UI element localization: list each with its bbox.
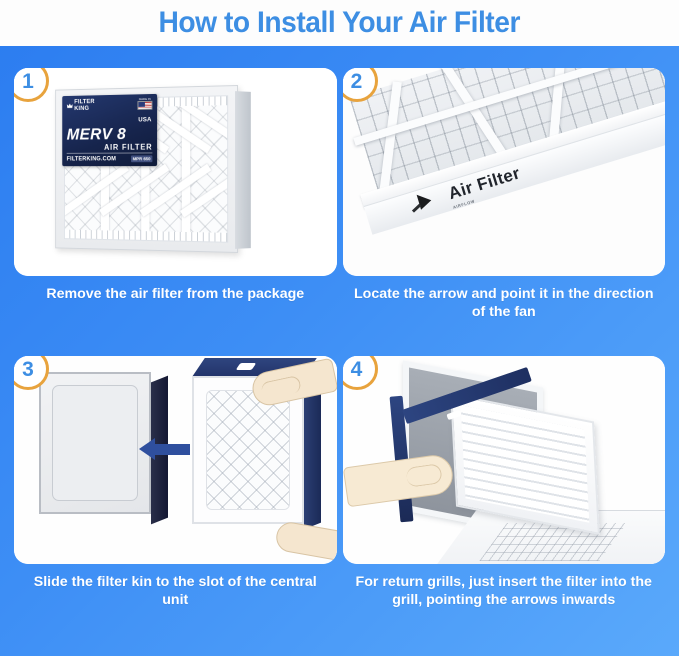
label-footer-row: FILTERKING.COM MPR 650 [67, 152, 153, 162]
country-text: USA [138, 117, 151, 124]
step-1: 1 [14, 68, 337, 354]
made-in-usa-mark: MADE IN USA [137, 98, 152, 126]
filter-corner-body: Air Filter AIRFLOW [343, 68, 666, 276]
step-1-image-card: 1 [14, 68, 337, 276]
unit-recess [52, 385, 138, 501]
steps-grid: 1 [0, 46, 679, 656]
brand-website: FILTERKING.COM [67, 156, 116, 163]
merv-rating: MERV 8 [67, 126, 153, 143]
usa-flag-icon [137, 101, 152, 110]
step-3: 3 [14, 356, 337, 642]
insert-direction-arrow-icon [154, 444, 190, 455]
step-2: 2 Air Filter AIRFLOW [343, 68, 666, 354]
step-4-image-card: 4 [343, 356, 666, 564]
air-filter-body: FILTER KING MADE IN USA [55, 85, 238, 253]
page-title: How to Install Your Air Filter [159, 6, 520, 40]
slide-filter-illustration [14, 356, 337, 564]
step-1-caption: Remove the air filter from the package [14, 285, 337, 303]
label-header-row: FILTER KING MADE IN USA [67, 98, 153, 127]
unit-front-face [39, 372, 151, 514]
header-band: How to Install Your Air Filter [0, 0, 679, 46]
step-3-caption: Slide the filter kin to the slot of the … [14, 573, 337, 609]
infographic-root: How to Install Your Air Filter 1 [0, 0, 679, 656]
step-3-image-card: 3 [14, 356, 337, 564]
filter-side-edge [235, 91, 251, 249]
hand-lower [274, 520, 337, 562]
crown-icon [67, 103, 73, 110]
step-2-caption: Locate the arrow and point it in the dir… [343, 285, 666, 321]
central-unit-slot [39, 372, 151, 514]
mpr-badge: MPR 650 [131, 156, 153, 162]
filter-diamond-media [206, 390, 290, 510]
return-grill-illustration [343, 356, 666, 564]
brand-mark: FILTER KING [67, 99, 95, 112]
filter-product-label: FILTER KING MADE IN USA [62, 94, 157, 166]
brand-name: FILTER KING [74, 99, 94, 112]
filter-product-photo: FILTER KING MADE IN USA [14, 68, 337, 276]
step-4: 4 For return grills, just insert the fil… [343, 356, 666, 642]
step-2-image-card: 2 Air Filter AIRFLOW [343, 68, 666, 276]
label-merv-block: MERV 8 AIR FILTER [67, 126, 153, 153]
grill-louvers [460, 405, 589, 522]
step-4-caption: For return grills, just insert the filte… [343, 573, 666, 609]
product-type: AIR FILTER [67, 143, 153, 152]
filter-right-edge [304, 375, 321, 530]
filter-corner-photo: Air Filter AIRFLOW [343, 68, 666, 276]
